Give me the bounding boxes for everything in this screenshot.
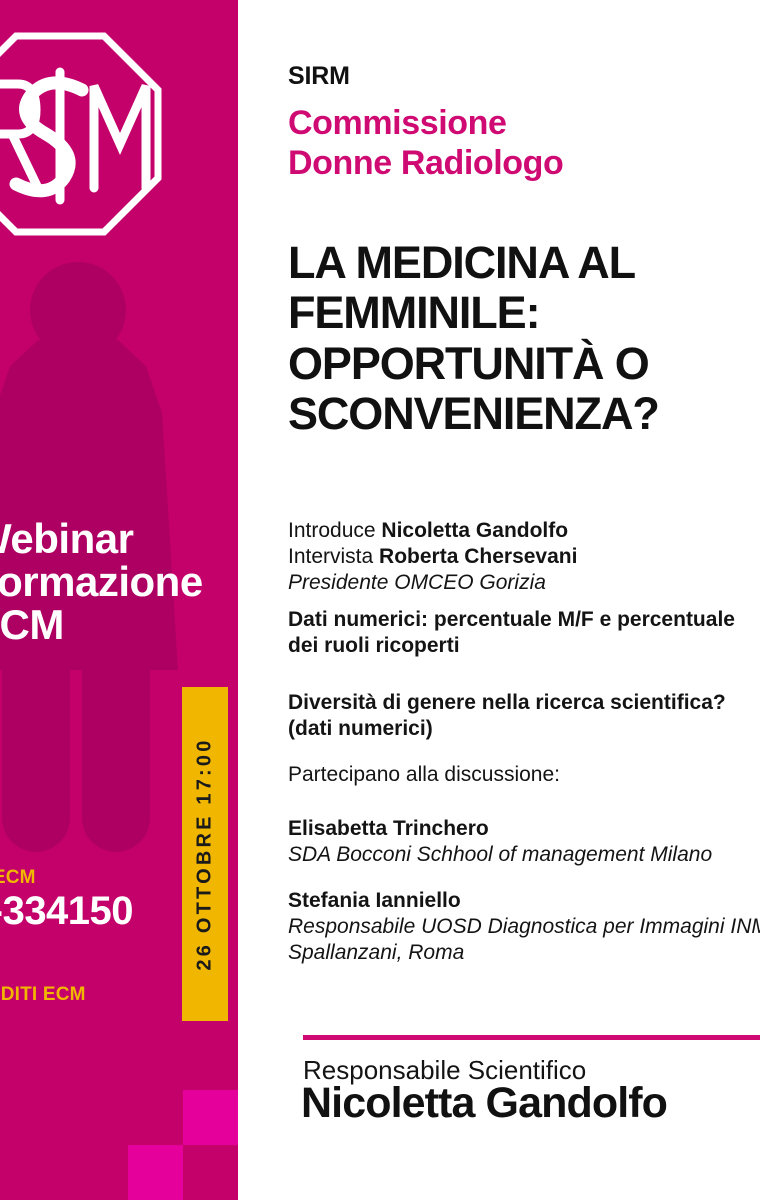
speaker-ianniello-affiliation-1: Responsabile UOSD Diagnostica per Immagi… [288, 914, 760, 940]
introduce-prefix: Introduce [288, 519, 381, 542]
sirm-octagon-logo-icon [0, 28, 166, 240]
speaker-trinchero-affiliation-1: SDA Bocconi Schhool of management Milano [288, 842, 760, 868]
organization-name: SIRM [288, 64, 350, 89]
topic-dati-line-2: dei ruoli ricoperti [288, 633, 760, 659]
introduce-line: Introduce Nicoletta Gandolfo [288, 518, 760, 544]
checker-square-top [183, 1090, 238, 1145]
partecipano-label: Partecipano alla discussione: [288, 762, 760, 788]
intervista-name: Roberta Chersevani [379, 545, 577, 568]
page-title-line-3: OPPORTUNITÀ O [288, 339, 708, 389]
commission-line-1: Commissione [288, 103, 563, 143]
topic-diversita-line-2: (dati numerici) [288, 716, 760, 742]
panel-headline: Webinar Formazione ECM [0, 518, 238, 646]
panel-headline-line-3: ECM [0, 604, 238, 647]
partecipano-label-block: Partecipano alla discussione: [288, 762, 760, 788]
speaker-trinchero-name: Elisabetta Trinchero [288, 816, 760, 842]
poster-canvas: Webinar Formazione ECM ID ECM 3-334150 C… [0, 0, 760, 1200]
page-title-line-1: LA MEDICINA AL [288, 238, 708, 288]
checker-square-bottom [128, 1145, 183, 1200]
page-title-line-4: SCONVENIENZA? [288, 389, 708, 439]
footer-divider [303, 1035, 760, 1040]
topic-dati-line-1: Dati numerici: percentuale M/F e percent… [288, 607, 760, 633]
page-title: LA MEDICINA AL FEMMINILE: OPPORTUNITÀ O … [288, 238, 708, 440]
pictogram-leg-left [2, 652, 70, 852]
speaker-trinchero: Elisabetta Trinchero SDA Bocconi Schhool… [288, 816, 760, 868]
commission-line-2: Donne Radiologo [288, 143, 563, 183]
topic-diversita-genere: Diversità di genere nella ricerca scient… [288, 690, 760, 742]
intervista-role: Presidente OMCEO Gorizia [288, 570, 760, 596]
intervista-prefix: Intervista [288, 545, 379, 568]
speaker-ianniello: Stefania Ianniello Responsabile UOSD Dia… [288, 888, 760, 966]
date-badge-text: 26 OTTOBRE 17:00 [194, 737, 217, 970]
commission-title: Commissione Donne Radiologo [288, 103, 563, 183]
speaker-ianniello-affiliation-2: Spallanzani, Roma [288, 940, 760, 966]
panel-headline-line-1: Webinar [0, 518, 238, 561]
topic-diversita-line-1: Diversità di genere nella ricerca scient… [288, 690, 760, 716]
date-badge: 26 OTTOBRE 17:00 [182, 687, 228, 1021]
responsabile-name: Nicoletta Gandolfo [301, 1080, 667, 1127]
panel-headline-line-2: Formazione [0, 561, 238, 604]
introduction-block: Introduce Nicoletta Gandolfo Intervista … [288, 518, 760, 596]
pictogram-leg-right [82, 652, 150, 852]
intervista-line: Intervista Roberta Chersevani [288, 544, 760, 570]
introduce-name: Nicoletta Gandolfo [381, 519, 568, 542]
content-column: SIRM Commissione Donne Radiologo LA MEDI… [288, 0, 760, 1200]
speaker-ianniello-name: Stefania Ianniello [288, 888, 760, 914]
page-title-line-2: FEMMINILE: [288, 288, 708, 338]
topic-dati-numerici: Dati numerici: percentuale M/F e percent… [288, 607, 760, 659]
